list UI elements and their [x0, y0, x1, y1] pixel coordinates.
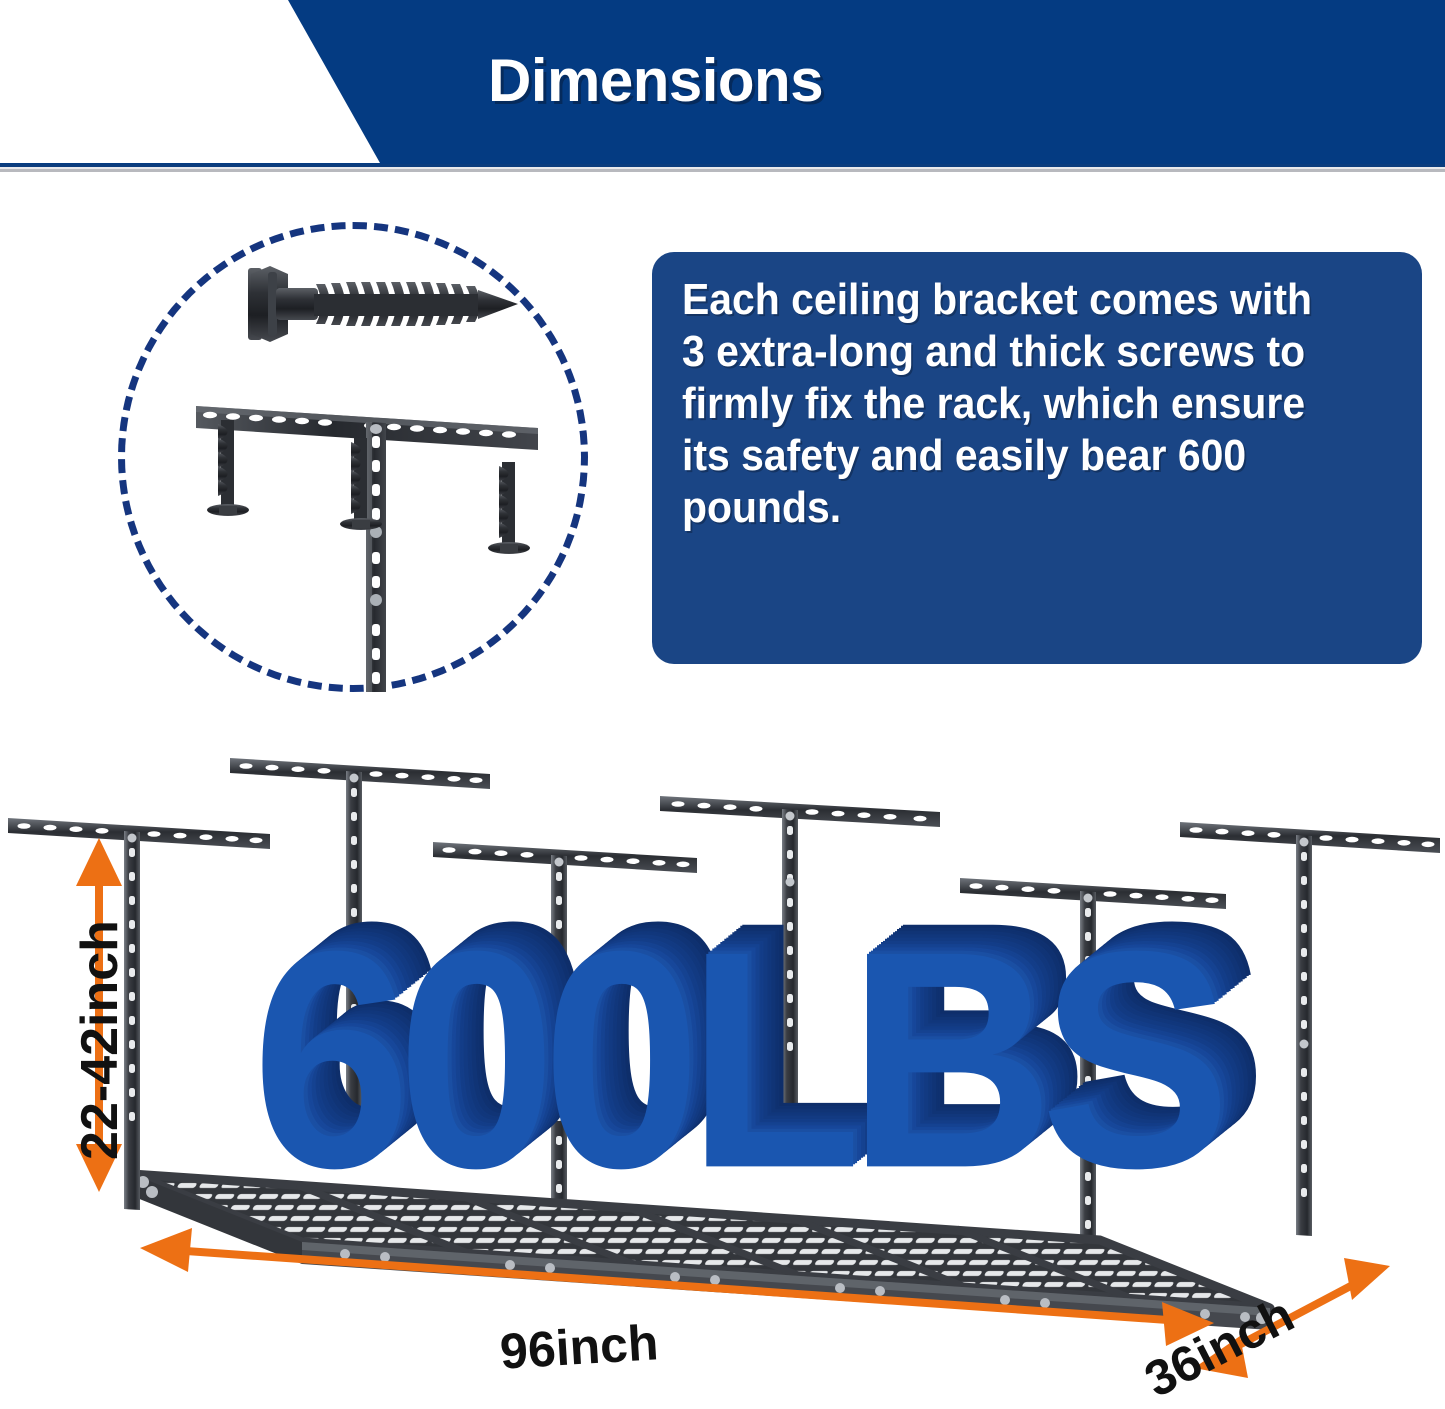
load-capacity-text: 600LBS [252, 905, 1217, 1214]
detail-circle-inset [118, 222, 588, 692]
lag-screw-icon [248, 266, 518, 342]
callout-text: Each ceiling bracket comes with 3 extra-… [682, 274, 1346, 534]
ceiling-bracket [1180, 822, 1440, 1236]
dimension-height-label: 22-42inch [70, 920, 130, 1160]
page-title: Dimensions [488, 46, 823, 115]
dimension-width-label: 96inch [498, 1313, 660, 1381]
header-separator-rule [0, 164, 1445, 174]
callout-box: Each ceiling bracket comes with 3 extra-… [652, 252, 1422, 664]
bracket-screw-diagram [118, 222, 588, 692]
